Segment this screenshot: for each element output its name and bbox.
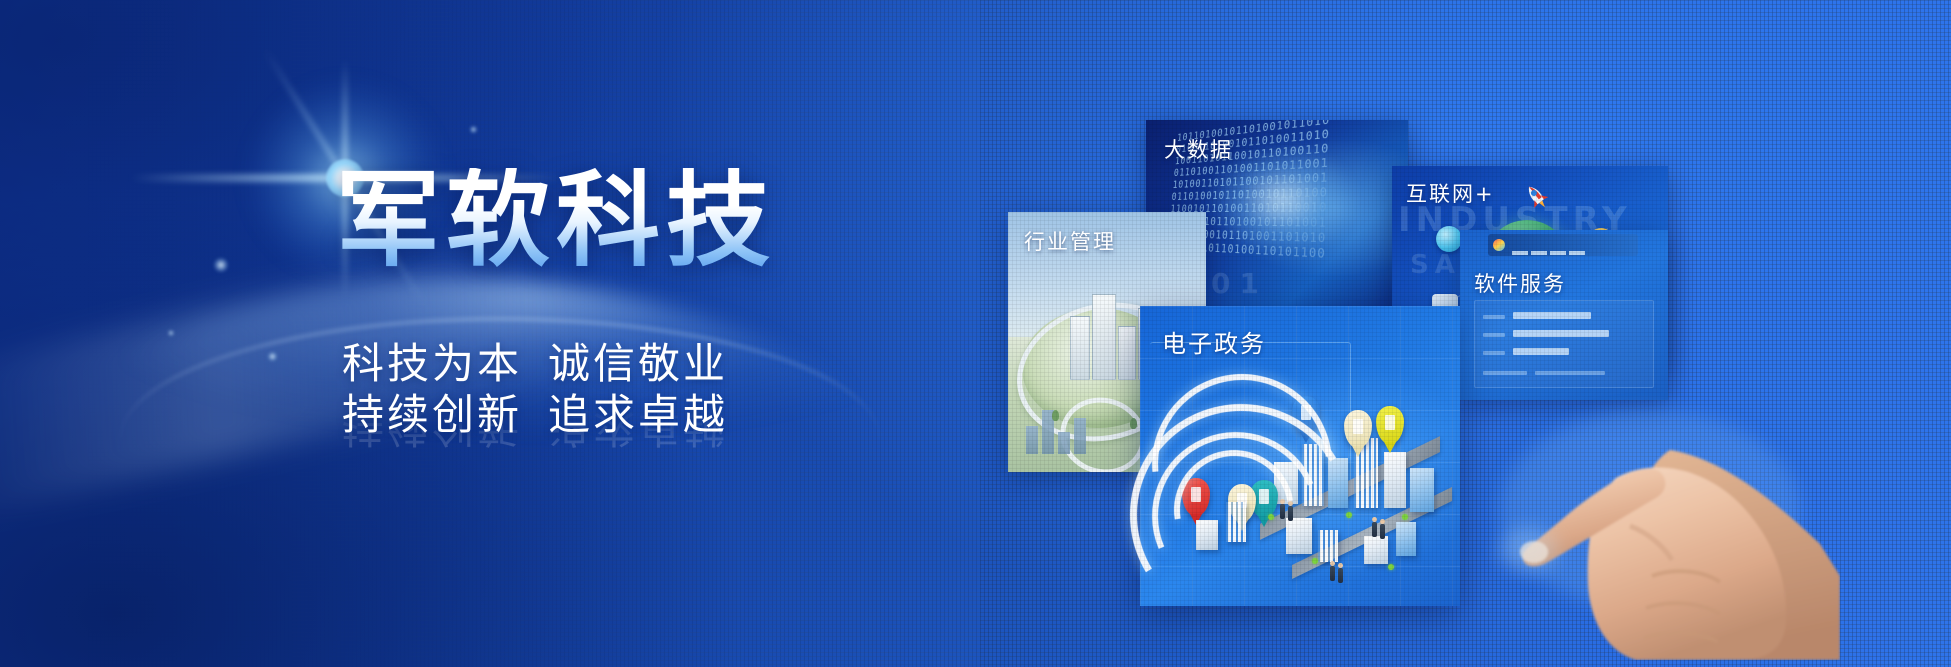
- form-label: [1483, 351, 1505, 355]
- app-title-bars: [1512, 240, 1588, 256]
- form-label: [1483, 315, 1505, 319]
- industry-building: [1092, 294, 1116, 380]
- greenery-dot: [1402, 514, 1408, 520]
- industry-tree: [1052, 410, 1059, 421]
- card-title-bigdata: 大数据: [1164, 134, 1233, 164]
- software-form-panel: [1474, 300, 1654, 388]
- iso-building: [1396, 522, 1416, 556]
- app-logo-icon: [1493, 239, 1505, 251]
- form-label: [1535, 371, 1605, 375]
- iso-building: [1410, 468, 1434, 512]
- industry-bar: [1058, 432, 1070, 454]
- card-title-industry: 行业管理: [1024, 226, 1116, 256]
- map-pin-icon: [1376, 406, 1404, 444]
- people-figure: [1380, 524, 1385, 539]
- software-app-header: [1488, 234, 1638, 256]
- card-title-software: 软件服务: [1474, 268, 1566, 298]
- form-label: [1483, 371, 1527, 375]
- people-figure: [1338, 568, 1343, 583]
- industry-building: [1070, 316, 1090, 380]
- iso-building: [1364, 536, 1388, 564]
- industry-bar: [1026, 426, 1038, 454]
- hero-banner: 军软科技 科技为本诚信敬业 持续创新追求卓越 持续创新追求卓越 10110100…: [0, 0, 1951, 667]
- form-field: [1513, 312, 1591, 319]
- card-title-egov: 电子政务: [1162, 324, 1266, 359]
- greenery-dot: [1388, 564, 1394, 570]
- industry-bar: [1074, 418, 1086, 454]
- card-title-internet: 互联网+: [1406, 178, 1495, 208]
- industry-building: [1118, 326, 1136, 380]
- iso-building: [1384, 452, 1406, 508]
- form-field: [1513, 330, 1609, 337]
- service-card-collage: 10110100101101001011010 0100110100101101…: [0, 0, 1951, 667]
- card-software-service[interactable]: 软件服务: [1460, 230, 1668, 400]
- industry-tree: [1130, 418, 1137, 429]
- network-node-chat-icon: [1436, 226, 1462, 252]
- people-figure: [1372, 522, 1377, 537]
- form-label: [1483, 333, 1505, 337]
- form-field: [1513, 348, 1569, 355]
